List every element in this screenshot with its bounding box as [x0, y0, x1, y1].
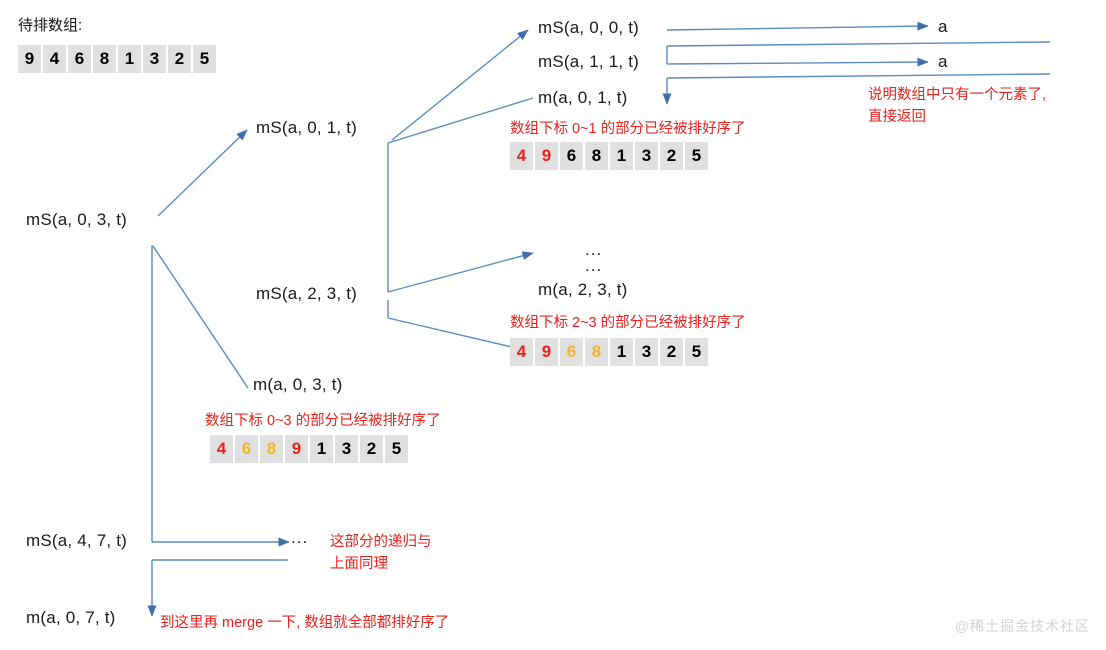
array-cell: 2: [360, 435, 383, 463]
array-cell: 8: [585, 142, 608, 170]
node-mergesort-0-1: mS(a, 0, 1, t): [256, 118, 357, 138]
array-cell: 3: [335, 435, 358, 463]
note-same-recursion: 这部分的递归与 上面同理: [330, 531, 432, 576]
array-cell: 4: [210, 435, 233, 463]
array-cell: 1: [610, 142, 633, 170]
note-single-element-line1: 说明数组中只有一个元素了,: [868, 84, 1046, 106]
array-cell: 2: [660, 142, 683, 170]
array-cell: 6: [235, 435, 258, 463]
array-cell: 9: [535, 338, 558, 366]
node-merge-2-3: m(a, 2, 3, t): [538, 280, 628, 300]
array-cell: 5: [685, 142, 708, 170]
array-sorted-2-3: 4 9 6 8 1 3 2 5: [510, 338, 708, 366]
note-same-recursion-line1: 这部分的递归与: [330, 531, 432, 553]
note-sorted-0-3: 数组下标 0~3 的部分已经被排好序了: [205, 410, 441, 432]
node-merge-0-1: m(a, 0, 1, t): [538, 88, 628, 108]
note-same-recursion-line2: 上面同理: [330, 553, 432, 575]
array-cell: 9: [535, 142, 558, 170]
array-cell: 9: [18, 45, 41, 73]
array-sorted-0-1: 4 9 6 8 1 3 2 5: [510, 142, 708, 170]
array-cell: 3: [635, 142, 658, 170]
node-mergesort-0-3: mS(a, 0, 3, t): [26, 210, 127, 230]
node-mergesort-4-7: mS(a, 4, 7, t): [26, 531, 127, 551]
array-cell: 4: [510, 142, 533, 170]
note-sorted-0-1: 数组下标 0~1 的部分已经被排好序了: [510, 118, 746, 140]
array-cell: 3: [143, 45, 166, 73]
note-sorted-2-3: 数组下标 2~3 的部分已经被排好序了: [510, 312, 746, 334]
array-cell: 5: [385, 435, 408, 463]
array-cell: 2: [660, 338, 683, 366]
note-single-element: 说明数组中只有一个元素了, 直接返回: [868, 84, 1046, 129]
array-cell: 1: [118, 45, 141, 73]
node-mergesort-1-1: mS(a, 1, 1, t): [538, 52, 639, 72]
return-value-a-first: a: [938, 17, 947, 37]
array-cell: 4: [510, 338, 533, 366]
array-cell: 2: [168, 45, 191, 73]
ellipsis-bottom: ...: [291, 528, 308, 548]
array-cell: 4: [43, 45, 66, 73]
array-cell: 8: [93, 45, 116, 73]
array-cell: 5: [685, 338, 708, 366]
array-cell: 8: [260, 435, 283, 463]
watermark: @稀土掘金技术社区: [955, 616, 1090, 636]
array-cell: 1: [610, 338, 633, 366]
node-mergesort-0-0: mS(a, 0, 0, t): [538, 18, 639, 38]
array-cell: 6: [68, 45, 91, 73]
diagram-canvas: 待排数组: 9 4 6 8 1 3 2 5 mS(a, 0, 3, t) mS(…: [0, 0, 1106, 650]
note-single-element-line2: 直接返回: [868, 106, 1046, 128]
array-cell: 3: [635, 338, 658, 366]
node-merge-0-7: m(a, 0, 7, t): [26, 608, 116, 628]
array-cell: 1: [310, 435, 333, 463]
array-sorted-0-3: 4 6 8 9 1 3 2 5: [210, 435, 408, 463]
array-cell: 5: [193, 45, 216, 73]
array-cell: 6: [560, 142, 583, 170]
initial-array-title: 待排数组:: [18, 14, 82, 35]
array-cell: 8: [585, 338, 608, 366]
node-merge-0-3: m(a, 0, 3, t): [253, 375, 343, 395]
return-value-a-second: a: [938, 52, 947, 72]
ellipsis-mid-bottom: ...: [585, 256, 602, 276]
array-cell: 9: [285, 435, 308, 463]
initial-array: 9 4 6 8 1 3 2 5: [18, 45, 216, 73]
note-final-merge: 到这里再 merge 一下, 数组就全部都排好序了: [160, 612, 449, 634]
array-cell: 6: [560, 338, 583, 366]
node-mergesort-2-3: mS(a, 2, 3, t): [256, 284, 357, 304]
